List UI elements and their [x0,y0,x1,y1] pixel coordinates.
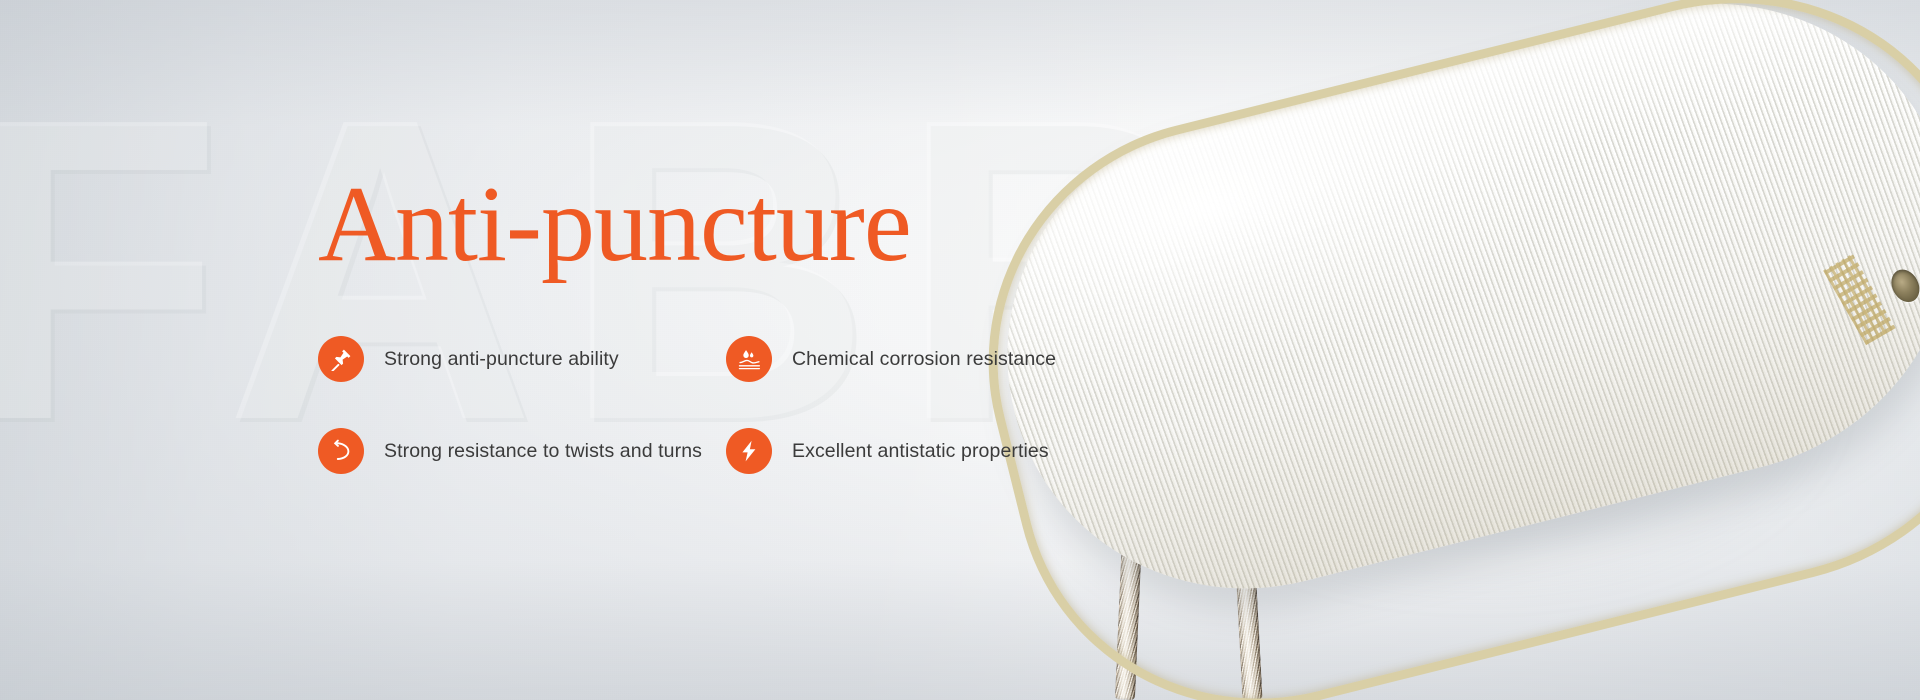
feature-list: Strong anti-puncture ability Chemica [318,336,1138,474]
feature-label: Strong resistance to twists and turns [384,440,702,463]
feature-label: Excellent antistatic properties [792,440,1049,463]
feature-item-twist-resistance: Strong resistance to twists and turns [318,428,726,474]
banner-content: Anti-puncture Strong anti-puncture abili… [318,170,1138,474]
droplet-surface-icon [726,336,772,382]
feature-item-antistatic: Excellent antistatic properties [726,428,1134,474]
feature-label: Chemical corrosion resistance [792,348,1056,371]
rotation-arrow-icon [318,428,364,474]
feature-item-anti-puncture: Strong anti-puncture ability [318,336,726,382]
page-title: Anti-puncture [318,170,1138,280]
lightning-bolt-icon [726,428,772,474]
feature-item-chemical-resistance: Chemical corrosion resistance [726,336,1134,382]
pushpin-icon [318,336,364,382]
anti-puncture-banner: FABRIC FABRIC Anti-puncture [0,0,1920,700]
feature-label: Strong anti-puncture ability [384,348,619,371]
